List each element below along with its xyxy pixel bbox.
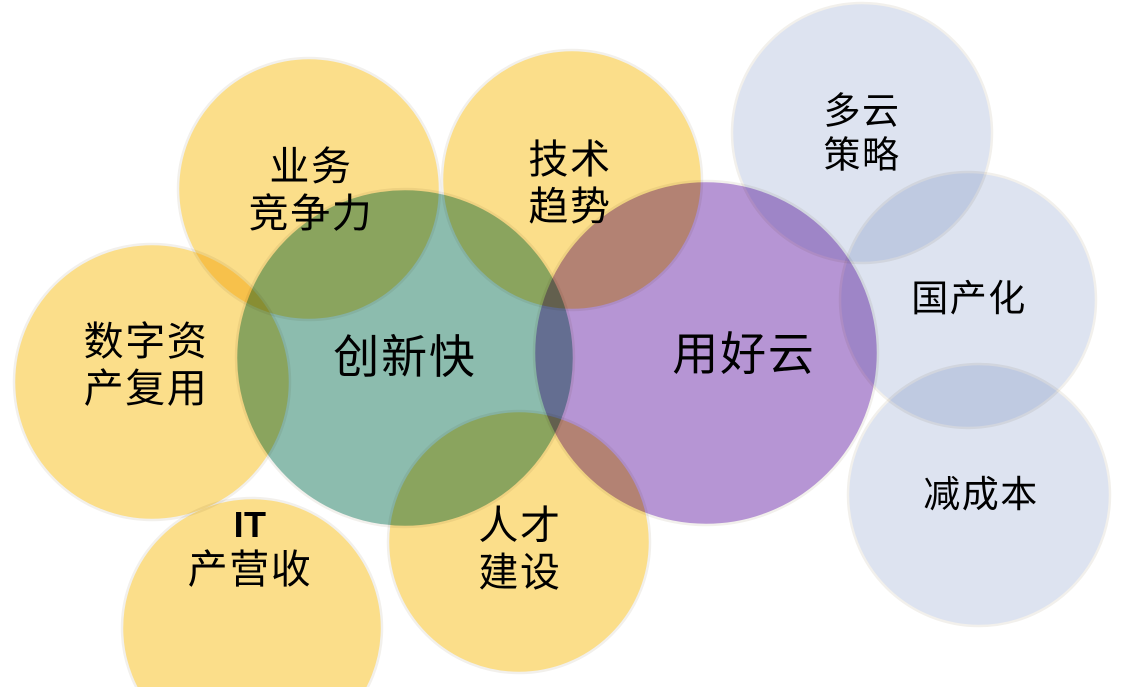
venn-label-line: 人才 <box>478 502 561 549</box>
venn-label-line: 策略 <box>824 134 901 178</box>
venn-label-cost-reduction: 减成本 <box>923 474 1038 518</box>
venn-label-line: 产复用 <box>84 365 209 412</box>
venn-label-line: 多云 <box>824 90 901 134</box>
venn-label-talent-development: 人才建设 <box>478 502 561 596</box>
venn-label-line: 趋势 <box>528 183 611 230</box>
venn-label-line: 建设 <box>478 549 561 596</box>
venn-label-line: 技术 <box>528 136 611 183</box>
venn-label-line: 业务 <box>249 143 374 190</box>
venn-label-line: 数字资 <box>84 318 209 365</box>
venn-label-technology-trends: 技术趋势 <box>528 136 611 230</box>
venn-label-domestic-localization: 国产化 <box>911 278 1026 322</box>
venn-label-line: 减成本 <box>923 474 1038 518</box>
venn-label-it-revenue: IT产营收 <box>188 504 313 594</box>
venn-label-multi-cloud-strategy: 多云策略 <box>824 90 901 177</box>
venn-label-line: 用好云 <box>672 328 816 382</box>
venn-diagram-canvas: 数字资产复用业务竞争力技术趋势IT产营收人才建设创新快用好云多云策略国产化减成本 <box>0 0 1129 687</box>
venn-label-line: 产营收 <box>188 547 313 594</box>
venn-label-line: IT <box>188 504 313 546</box>
venn-label-business-competitiveness: 业务竞争力 <box>249 143 374 237</box>
venn-label-use-cloud-well: 用好云 <box>672 328 816 382</box>
venn-label-line: 国产化 <box>911 278 1026 322</box>
venn-label-fast-innovation: 创新快 <box>333 331 477 385</box>
venn-label-line: 创新快 <box>333 331 477 385</box>
venn-label-line: 竞争力 <box>249 190 374 237</box>
venn-label-digital-asset-reuse: 数字资产复用 <box>84 318 209 412</box>
